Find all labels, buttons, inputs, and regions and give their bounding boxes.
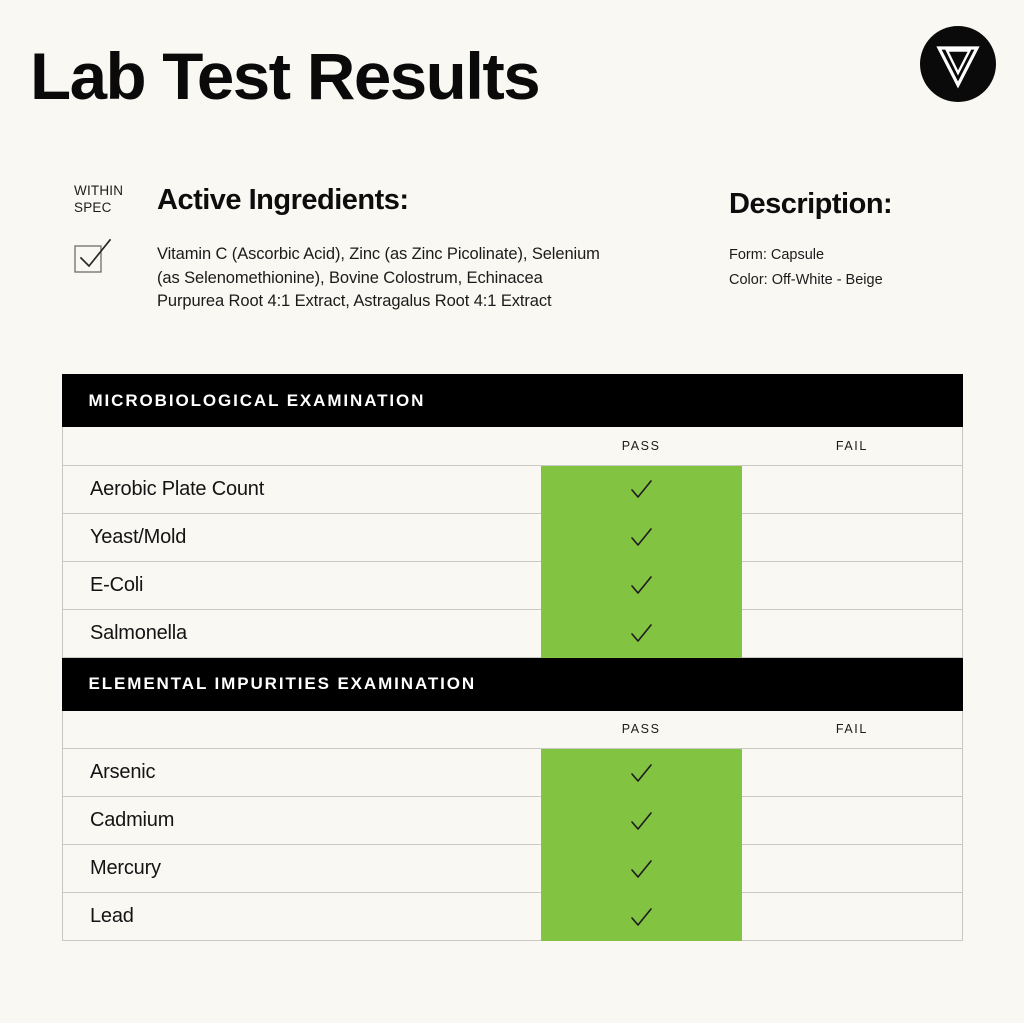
test-name: Mercury	[63, 845, 541, 893]
active-ingredients-text: Vitamin C (Ascorbic Acid), Zinc (as Zinc…	[157, 243, 607, 314]
microbiological-rows: PASS FAIL Aerobic Plate Count Yeast/Mold…	[63, 427, 962, 658]
table-row[interactable]: Salmonella	[63, 609, 962, 657]
pass-cell	[541, 749, 742, 797]
section-header-elemental-impurities: ELEMENTAL IMPURITIES EXAMINATION	[62, 658, 963, 711]
fail-cell	[742, 465, 962, 513]
pass-cell	[541, 893, 742, 941]
test-name: Aerobic Plate Count	[63, 465, 541, 513]
fail-cell	[742, 561, 962, 609]
pass-cell	[541, 845, 742, 893]
description-item-color: Color: Off-White - Beige	[729, 268, 999, 293]
check-icon	[628, 856, 654, 882]
test-name: Salmonella	[63, 609, 541, 657]
table-row[interactable]: Arsenic	[63, 749, 962, 797]
column-header-pass: PASS	[541, 427, 742, 465]
column-header-name	[63, 711, 541, 749]
pass-cell	[541, 513, 742, 561]
test-name: E-Coli	[63, 561, 541, 609]
pass-cell	[541, 561, 742, 609]
check-icon	[628, 524, 654, 550]
test-name: Arsenic	[63, 749, 541, 797]
check-icon	[628, 904, 654, 930]
fail-cell	[742, 797, 962, 845]
table-row[interactable]: Cadmium	[63, 797, 962, 845]
within-spec-line-2: SPEC	[74, 200, 123, 217]
fail-cell	[742, 749, 962, 797]
table-row[interactable]: Yeast/Mold	[63, 513, 962, 561]
table-row[interactable]: Lead	[63, 893, 962, 941]
brand-logo	[919, 25, 997, 103]
test-name: Cadmium	[63, 797, 541, 845]
column-header-row: PASS FAIL	[63, 711, 962, 749]
check-icon	[628, 620, 654, 646]
active-ingredients-heading: Active Ingredients:	[157, 184, 409, 217]
pass-cell	[541, 609, 742, 657]
pass-cell	[541, 465, 742, 513]
column-header-name	[63, 427, 541, 465]
check-icon	[628, 572, 654, 598]
check-icon	[628, 760, 654, 786]
column-header-fail: FAIL	[742, 711, 962, 749]
within-spec-label: WITHIN SPEC	[74, 183, 123, 216]
table-row[interactable]: E-Coli	[63, 561, 962, 609]
description-list: Form: Capsule Color: Off-White - Beige	[729, 243, 999, 293]
check-icon	[628, 808, 654, 834]
page-title: Lab Test Results	[30, 40, 539, 112]
column-header-pass: PASS	[541, 711, 742, 749]
fail-cell	[742, 845, 962, 893]
lab-results-table: MICROBIOLOGICAL EXAMINATION PASS FAIL Ae…	[62, 374, 963, 941]
column-header-row: PASS FAIL	[63, 427, 962, 465]
within-spec-line-1: WITHIN	[74, 183, 123, 200]
table-row[interactable]: Aerobic Plate Count	[63, 465, 962, 513]
test-name: Yeast/Mold	[63, 513, 541, 561]
elemental-impurities-rows: PASS FAIL Arsenic Cadmium Mercury	[63, 711, 962, 942]
section-header-microbiological: MICROBIOLOGICAL EXAMINATION	[62, 374, 963, 427]
column-header-fail: FAIL	[742, 427, 962, 465]
fail-cell	[742, 513, 962, 561]
within-spec-checkbox[interactable]	[74, 238, 114, 274]
test-name: Lead	[63, 893, 541, 941]
fail-cell	[742, 609, 962, 657]
fail-cell	[742, 893, 962, 941]
description-heading: Description:	[729, 188, 892, 221]
description-item-form: Form: Capsule	[729, 243, 999, 268]
pass-cell	[541, 797, 742, 845]
check-icon	[628, 476, 654, 502]
table-row[interactable]: Mercury	[63, 845, 962, 893]
